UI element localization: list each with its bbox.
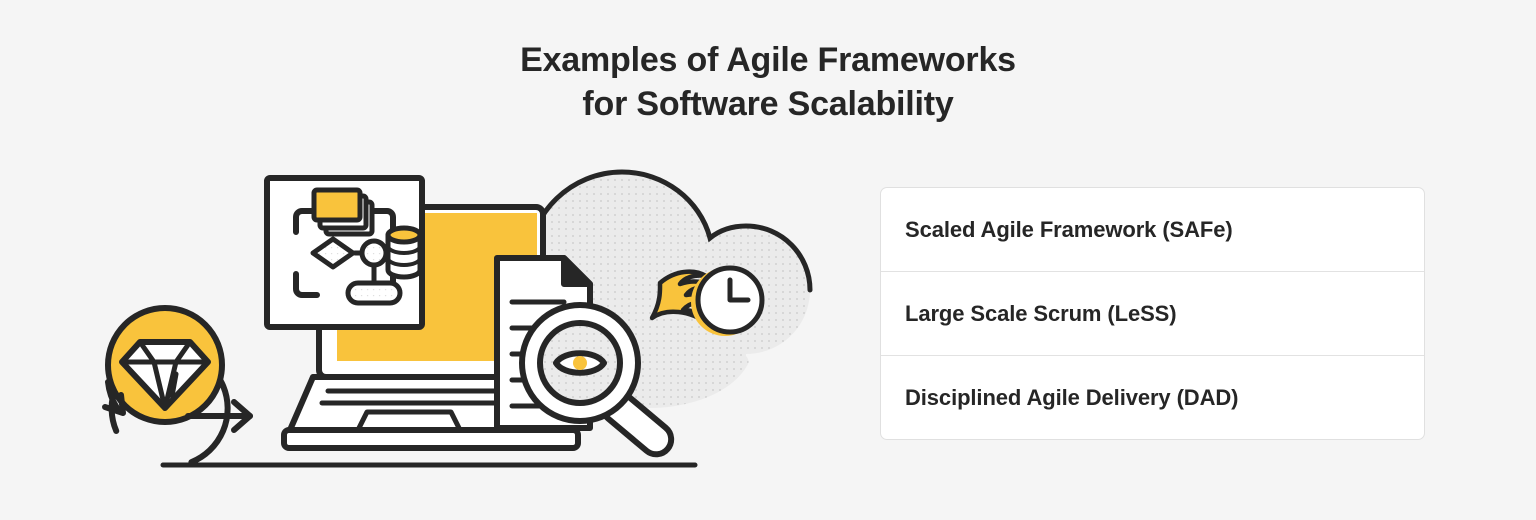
illustration xyxy=(60,150,820,490)
page-title-line-1: Examples of Agile Frameworks xyxy=(0,38,1536,82)
page-title-line-2: for Software Scalability xyxy=(0,82,1536,126)
list-item[interactable]: Scaled Agile Framework (SAFe) xyxy=(881,188,1424,272)
framework-label-3: Disciplined Agile Delivery (DAD) xyxy=(905,385,1238,411)
frameworks-list: Scaled Agile Framework (SAFe) Large Scal… xyxy=(880,187,1425,440)
page-title: Examples of Agile Frameworks for Softwar… xyxy=(0,38,1536,126)
infographic-canvas: Examples of Agile Frameworks for Softwar… xyxy=(0,0,1536,520)
framework-label-1: Scaled Agile Framework (SAFe) xyxy=(905,217,1233,243)
flowchart-card-icon xyxy=(267,178,422,327)
list-item[interactable]: Large Scale Scrum (LeSS) xyxy=(881,272,1424,356)
framework-label-2: Large Scale Scrum (LeSS) xyxy=(905,301,1176,327)
list-item[interactable]: Disciplined Agile Delivery (DAD) xyxy=(881,356,1424,440)
